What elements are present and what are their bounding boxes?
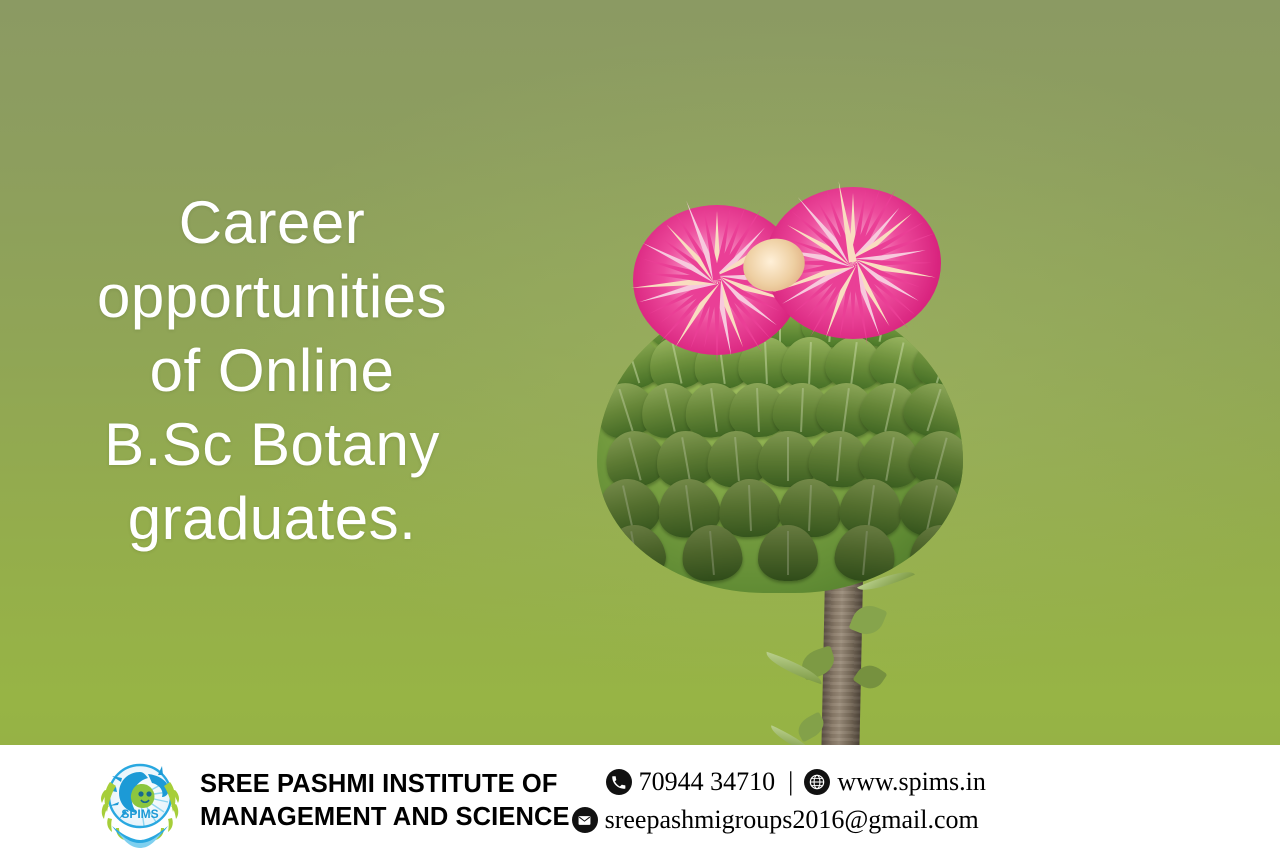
contact-details: 70944 34710 | www.spims.in xyxy=(606,763,986,839)
logo-monogram: SPIMS xyxy=(121,807,158,821)
globe-icon xyxy=(804,769,830,795)
contact-row-email: sreepashmigroups2016@gmail.com xyxy=(572,801,986,839)
headline-line-3: of Online xyxy=(22,334,522,408)
headline-line-4: B.Sc Botany xyxy=(22,408,522,482)
org-name-line-1: SREE PASHMI INSTITUTE OF xyxy=(200,768,570,801)
poster-canvas: Career opportunities of Online B.Sc Bota… xyxy=(0,0,1280,853)
contact-separator: | xyxy=(788,763,793,801)
org-name-line-2: MANAGEMENT AND SCIENCE xyxy=(200,801,570,834)
headline-line-1: Career xyxy=(22,186,522,260)
headline-line-5: graduates. xyxy=(22,482,522,556)
thistle-flower-illustration xyxy=(505,105,1050,805)
phone-number[interactable]: 70944 34710 xyxy=(639,763,776,801)
spims-logo: SPIMS xyxy=(88,752,192,850)
spims-lion-laurel-icon: SPIMS xyxy=(88,752,192,850)
envelope-icon xyxy=(572,807,598,833)
headline-line-2: opportunities xyxy=(22,260,522,334)
footer-bar: SPIMS SREE PASHMI INSTITUTE OF MANAGEMEN… xyxy=(0,745,1280,853)
footer-content: SPIMS SREE PASHMI INSTITUTE OF MANAGEMEN… xyxy=(0,745,1280,853)
contact-row-primary: 70944 34710 | www.spims.in xyxy=(606,763,986,801)
email-address[interactable]: sreepashmigroups2016@gmail.com xyxy=(605,801,979,839)
phone-icon xyxy=(606,769,632,795)
organization-name: SREE PASHMI INSTITUTE OF MANAGEMENT AND … xyxy=(200,768,570,834)
website-url[interactable]: www.spims.in xyxy=(837,763,986,801)
floret-crown xyxy=(623,165,939,375)
headline-text: Career opportunities of Online B.Sc Bota… xyxy=(22,186,522,556)
